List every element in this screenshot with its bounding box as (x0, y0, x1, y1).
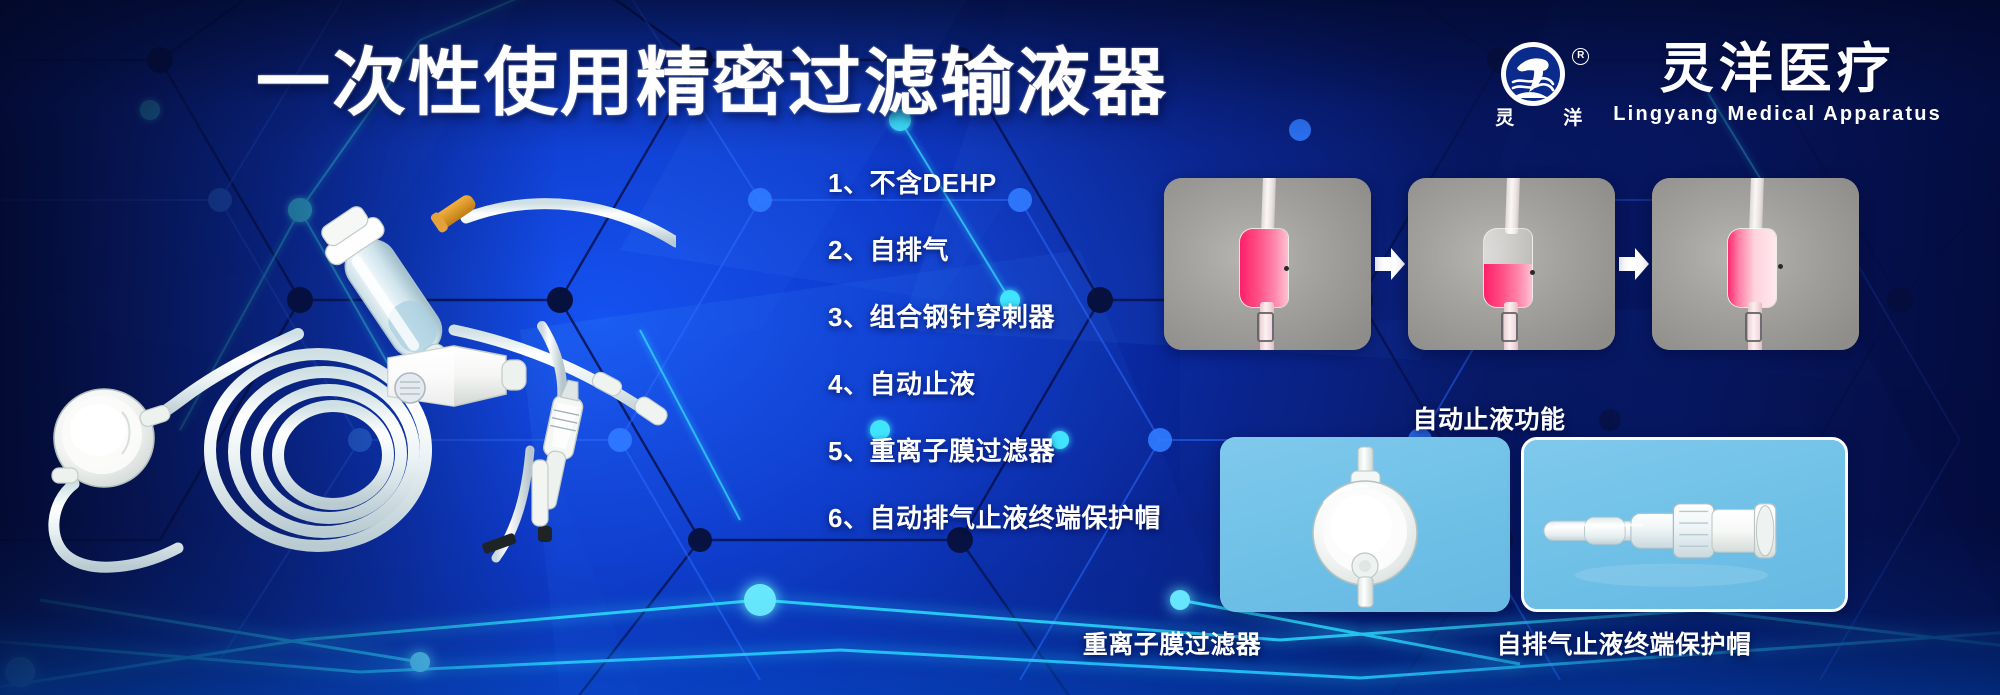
banner-title: 一次性使用精密过滤输液器 (256, 46, 1168, 120)
logo-emblem-subtext: 灵 洋 (1491, 103, 1587, 130)
feature-list: 1、不含DEHP 2、自排气 3、组合钢针穿刺器 4、自动止液 5、重离子膜过滤… (828, 170, 1208, 531)
logo-emblem-icon: R 灵 洋 (1491, 38, 1587, 130)
demo-photo-step-3 (1652, 178, 1859, 350)
feature-item-3: 3、组合钢针穿刺器 (828, 304, 1208, 330)
filter-photo (1220, 437, 1510, 612)
feature-item-5: 5、重离子膜过滤器 (828, 438, 1208, 464)
logo-emblem-char-left: 灵 (1495, 103, 1515, 130)
arrow-step-1-to-2 (1371, 178, 1408, 350)
auto-stop-demo-row (1164, 178, 1859, 350)
logo-wordmark: 灵洋医疗 Lingyang Medical Apparatus (1613, 42, 1942, 125)
logo-circle-icon (1491, 38, 1587, 110)
product-card-filter (1220, 437, 1510, 612)
filter-part (52, 389, 172, 487)
caption-filter: 重离子膜过滤器 (962, 625, 1382, 661)
product-banner: 一次性使用精密过滤输液器 R 灵 洋 灵洋医疗 Lingyang Medical… (0, 0, 2000, 695)
feature-item-2: 2、自排气 (828, 237, 1208, 263)
caption-auto-stop-function: 自动止液功能 (1169, 400, 1809, 436)
logo-company-name-en: Lingyang Medical Apparatus (1613, 103, 1942, 126)
end-cap-photo (1524, 440, 1845, 609)
arrow-step-2-to-3 (1615, 178, 1652, 350)
product-card-end-cap (1521, 437, 1848, 612)
feature-item-4: 4、自动止液 (828, 371, 1208, 397)
demo-photo-step-2 (1408, 178, 1615, 350)
right-arrow-icon (1619, 247, 1649, 281)
feature-item-6: 6、自动排气止液终端保护帽 (828, 505, 1208, 531)
demo-photo-step-1 (1164, 178, 1371, 350)
logo-company-name-cn: 灵洋医疗 (1660, 42, 1896, 97)
logo-emblem-char-right: 洋 (1563, 103, 1583, 130)
needle-assembly-photo (430, 320, 660, 580)
caption-end-cap: 自排气止液终端保护帽 (1404, 625, 1844, 661)
company-logo: R 灵 洋 灵洋医疗 Lingyang Medical Apparatus (1491, 38, 1942, 130)
right-arrow-icon (1375, 247, 1405, 281)
feature-item-1: 1、不含DEHP (828, 170, 1208, 196)
